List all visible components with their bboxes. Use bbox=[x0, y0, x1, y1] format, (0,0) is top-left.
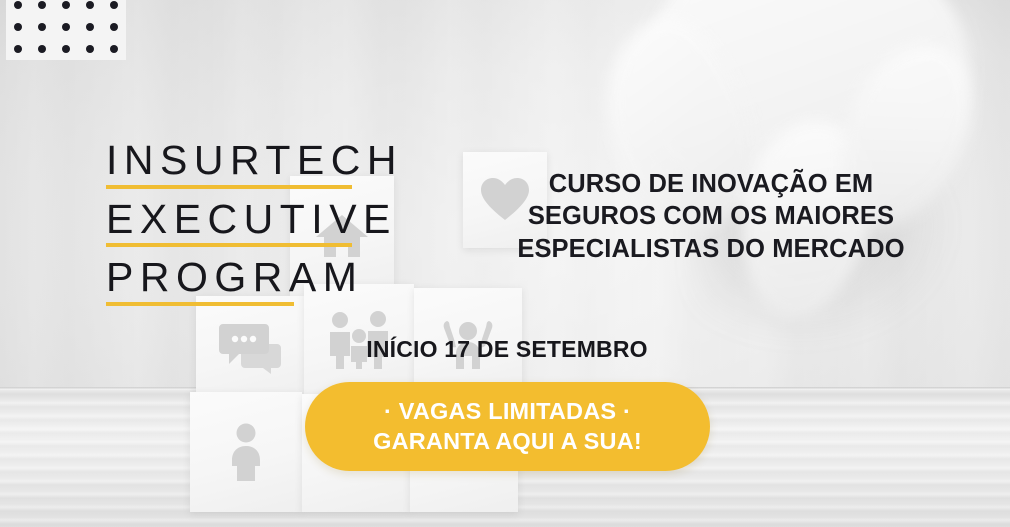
start-date-text: INÍCIO 17 DE SETEMBRO bbox=[305, 336, 709, 363]
dot-cell bbox=[30, 0, 54, 16]
dot-cell bbox=[78, 16, 102, 38]
dot bbox=[86, 23, 94, 31]
block-person-icon bbox=[190, 392, 302, 512]
dot bbox=[110, 1, 118, 9]
dot bbox=[110, 23, 118, 31]
speech-bubbles-icon bbox=[219, 322, 281, 374]
dot bbox=[110, 45, 118, 53]
dot-cell bbox=[102, 38, 126, 60]
cta-button[interactable]: · VAGAS LIMITADAS · GARANTA AQUI A SUA! bbox=[305, 382, 710, 471]
dot-cell bbox=[6, 0, 30, 16]
logo-line-1: INSURTECH bbox=[106, 139, 403, 189]
person-icon bbox=[225, 423, 267, 481]
dot bbox=[62, 45, 70, 53]
dot-cell bbox=[102, 0, 126, 16]
logo-word-program: PROGRAM bbox=[106, 256, 403, 299]
logo-word-executive: EXECUTIVE bbox=[106, 198, 403, 241]
cta-line-1: · VAGAS LIMITADAS · bbox=[384, 397, 631, 427]
dot bbox=[38, 23, 46, 31]
logo-rule bbox=[106, 302, 294, 306]
logo-word-insurtech: INSURTECH bbox=[106, 139, 403, 182]
promo-banner: INSURTECH EXECUTIVE PROGRAM CURSO DE INO… bbox=[0, 0, 1010, 527]
dot-cell bbox=[54, 38, 78, 60]
dot-cell bbox=[102, 16, 126, 38]
dot-cell bbox=[6, 38, 30, 60]
dot-cell bbox=[6, 16, 30, 38]
headline-line-2: SEGUROS COM OS MAIORES bbox=[496, 200, 926, 232]
logo-rule bbox=[106, 185, 352, 189]
dot-cell bbox=[30, 38, 54, 60]
logo-rule bbox=[106, 243, 352, 247]
dot-cell bbox=[54, 0, 78, 16]
dot-cell bbox=[78, 0, 102, 16]
dot bbox=[14, 45, 22, 53]
dot bbox=[14, 1, 22, 9]
dot-cell bbox=[54, 16, 78, 38]
dot bbox=[62, 23, 70, 31]
headline-line-3: ESPECIALISTAS DO MERCADO bbox=[496, 233, 926, 265]
logo-line-2: EXECUTIVE bbox=[106, 198, 403, 248]
dot bbox=[38, 1, 46, 9]
headline: CURSO DE INOVAÇÃO EM SEGUROS COM OS MAIO… bbox=[496, 168, 926, 265]
dot bbox=[62, 1, 70, 9]
headline-line-1: CURSO DE INOVAÇÃO EM bbox=[496, 168, 926, 200]
dot bbox=[38, 45, 46, 53]
cta-line-2: GARANTA AQUI A SUA! bbox=[373, 427, 642, 457]
dot-grid bbox=[6, 0, 126, 60]
dot-cell bbox=[30, 16, 54, 38]
dot bbox=[86, 45, 94, 53]
logo-line-3: PROGRAM bbox=[106, 256, 403, 306]
dot bbox=[14, 23, 22, 31]
dot bbox=[86, 1, 94, 9]
dot-cell bbox=[78, 38, 102, 60]
brand-logo: INSURTECH EXECUTIVE PROGRAM bbox=[106, 139, 403, 315]
